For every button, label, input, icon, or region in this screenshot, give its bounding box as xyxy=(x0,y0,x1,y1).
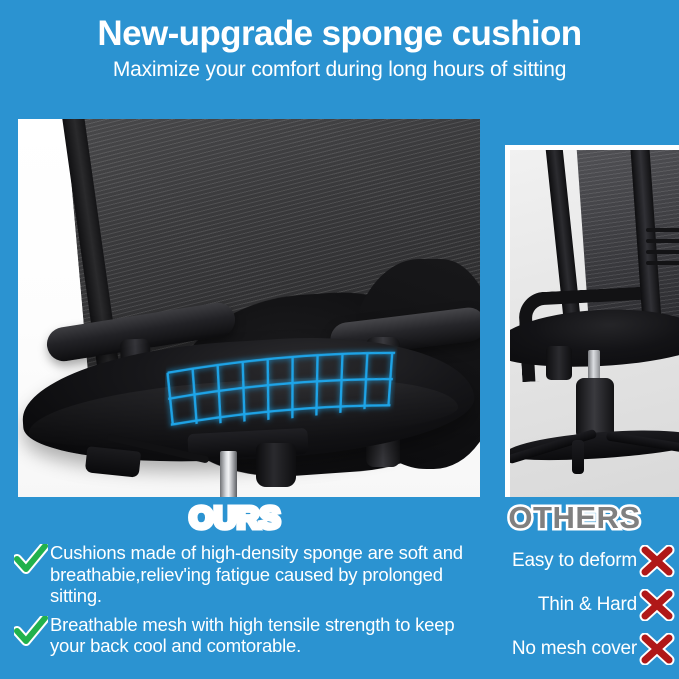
tilt-tension-knob xyxy=(256,443,296,487)
others-drawback-list: Easy to deform Thin & Hard xyxy=(470,543,675,675)
product-infographic: New-upgrade sponge cushion Maximize your… xyxy=(0,0,679,679)
main-product-photo xyxy=(18,119,480,497)
green-check-icon xyxy=(14,616,48,646)
list-item: Cushions made of high-density sponge are… xyxy=(14,541,472,607)
list-item: Thin & Hard xyxy=(470,587,675,623)
red-cross-icon xyxy=(639,633,675,665)
page-title: New-upgrade sponge cushion xyxy=(0,13,679,55)
inset-backrest-slats xyxy=(646,228,679,274)
gas-cylinder-shaft xyxy=(220,451,237,497)
inset-tilt-knob xyxy=(546,346,572,380)
green-check-icon xyxy=(14,544,48,574)
red-cross-icon xyxy=(639,589,675,621)
comparison-inset-photo xyxy=(505,145,679,497)
ours-benefit-list: Cushions made of high-density sponge are… xyxy=(14,541,472,663)
list-item-label: Breathable mesh with high tensile streng… xyxy=(50,613,472,657)
others-heading: OTHERS xyxy=(470,500,679,536)
list-item-label: No mesh cover xyxy=(512,638,637,660)
list-item-label: Easy to deform xyxy=(512,550,637,572)
list-item: Easy to deform xyxy=(470,543,675,579)
height-adjust-lever-pad xyxy=(85,446,141,478)
list-item-label: Thin & Hard xyxy=(538,594,637,616)
page-subtitle: Maximize your comfort during long hours … xyxy=(0,57,679,83)
list-item: No mesh cover xyxy=(470,631,675,667)
list-item: Breathable mesh with high tensile streng… xyxy=(14,613,472,657)
inset-base-leg xyxy=(572,440,584,474)
comparison-section: OURS OTHERS Cushions made of high-densit… xyxy=(0,497,679,679)
list-item-label: Cushions made of high-density sponge are… xyxy=(50,541,472,607)
ours-heading: OURS xyxy=(0,500,470,536)
header-banner: New-upgrade sponge cushion Maximize your… xyxy=(0,0,679,112)
red-cross-icon xyxy=(639,545,675,577)
